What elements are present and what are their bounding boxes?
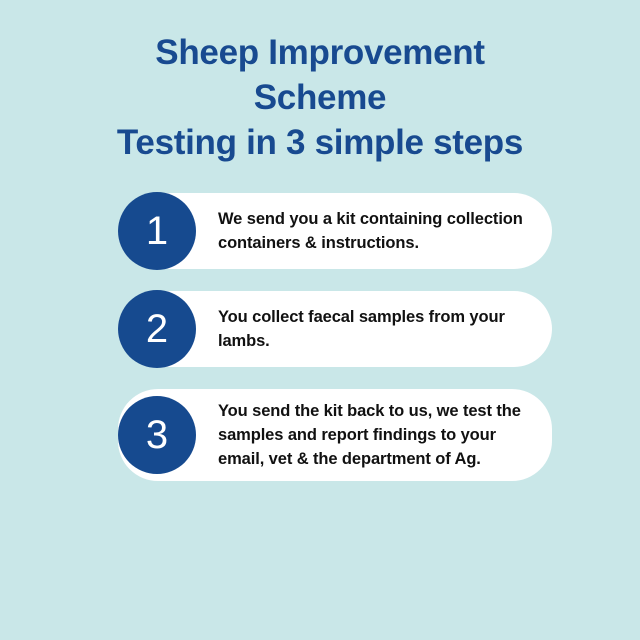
step-number-badge-3: 3 xyxy=(118,396,196,474)
title-line-3: Testing in 3 simple steps xyxy=(0,120,640,165)
list-item: You send the kit back to us, we test the… xyxy=(118,389,552,481)
step-text-2: You collect faecal samples from your lam… xyxy=(218,305,530,353)
title-line-1: Sheep Improvement xyxy=(0,30,640,75)
step-text-1: We send you a kit containing collection … xyxy=(218,207,530,255)
poster: Sheep Improvement Scheme Testing in 3 si… xyxy=(0,0,640,640)
step-text-3: You send the kit back to us, we test the… xyxy=(218,399,530,471)
steps-list: We send you a kit containing collection … xyxy=(0,193,640,481)
step-number-badge-2: 2 xyxy=(118,290,196,368)
title-line-2: Scheme xyxy=(0,75,640,120)
list-item: We send you a kit containing collection … xyxy=(118,193,552,269)
list-item: You collect faecal samples from your lam… xyxy=(118,291,552,367)
step-number-badge-1: 1 xyxy=(118,192,196,270)
page-title: Sheep Improvement Scheme Testing in 3 si… xyxy=(0,0,640,165)
